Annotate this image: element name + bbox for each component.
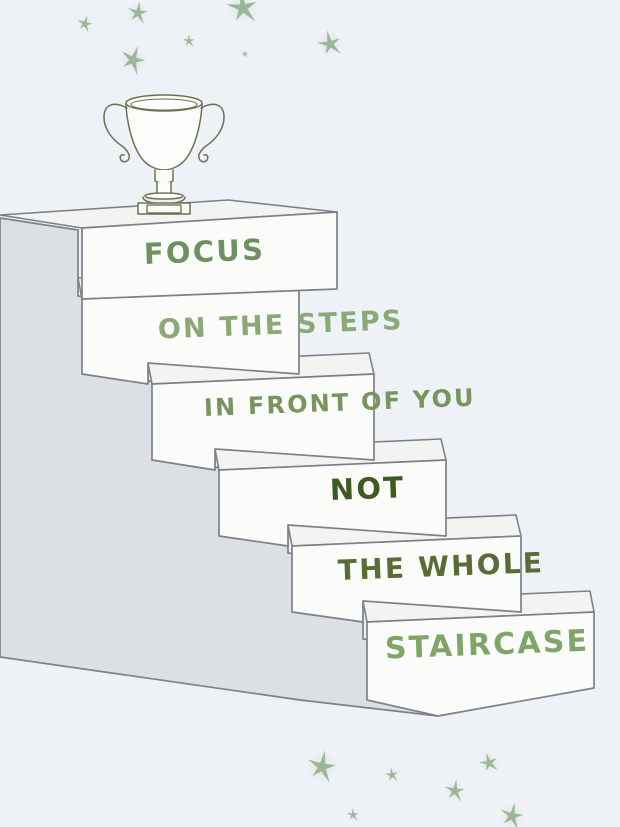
trophy-plaque xyxy=(147,205,181,213)
step-4-text: NOT xyxy=(329,470,406,507)
staircase-layer: FOCUS ON THE STEPS IN FRONT OF YOU NOT T… xyxy=(0,0,620,827)
step-1-text: FOCUS xyxy=(143,232,265,271)
trophy-icon xyxy=(104,95,224,214)
poster-canvas: FOCUS ON THE STEPS IN FRONT OF YOU NOT T… xyxy=(0,0,620,827)
